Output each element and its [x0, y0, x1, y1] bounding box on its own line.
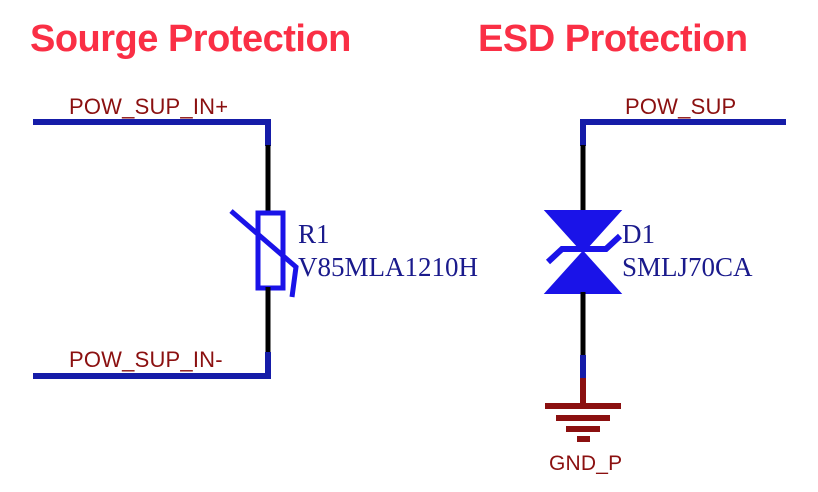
value-r1: V85MLA1210H	[298, 252, 478, 282]
designator-d1: D1	[622, 219, 655, 249]
designator-r1: R1	[298, 219, 330, 249]
schematic-drawing: Sourge Protection ESD Protection POW_SUP…	[0, 0, 818, 492]
net-label-gnd-p: GND_P	[549, 452, 622, 475]
surge-protection-section	[33, 119, 296, 376]
ground-symbol	[545, 378, 621, 439]
schematic-canvas: Sourge Protection ESD Protection POW_SUP…	[0, 0, 818, 492]
title-surge-protection: Sourge Protection	[30, 18, 351, 60]
value-d1: SMLJ70CA	[622, 252, 753, 282]
net-label-pow-sup: POW_SUP	[625, 94, 736, 119]
tvs-triangle-lower	[546, 252, 620, 293]
title-esd-protection: ESD Protection	[478, 18, 748, 60]
net-label-pow-sup-in-pos: POW_SUP_IN+	[69, 94, 228, 119]
net-label-pow-sup-in-neg: POW_SUP_IN-	[69, 347, 223, 372]
